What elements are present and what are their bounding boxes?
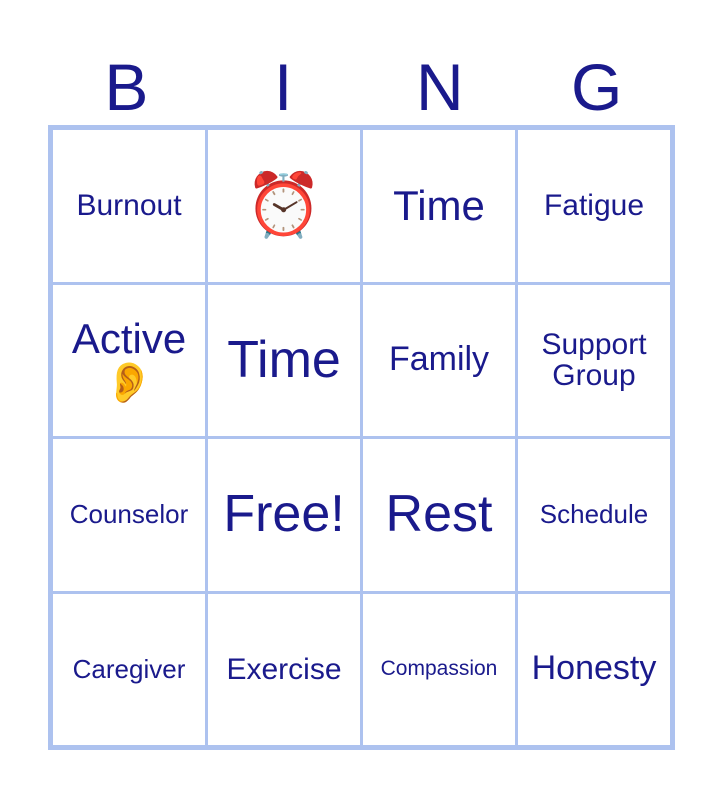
bingo-cell[interactable]: Family: [363, 285, 515, 437]
bingo-cell[interactable]: Time: [208, 285, 360, 437]
bingo-cell[interactable]: Counselor: [53, 439, 205, 591]
bingo-cell-label: Honesty: [522, 651, 666, 687]
bingo-cell-label: Compassion: [367, 658, 511, 680]
bingo-cell-label: Rest: [367, 487, 511, 542]
bingo-cell[interactable]: Active👂: [53, 285, 205, 437]
bingo-cell[interactable]: Time: [363, 130, 515, 282]
bingo-cell[interactable]: Exercise: [208, 594, 360, 746]
bingo-cell-label: Time: [212, 333, 356, 388]
bingo-cell[interactable]: Rest: [363, 439, 515, 591]
bingo-cell-label: Counselor: [57, 501, 201, 528]
bingo-grid: Burnout⏰TimeFatigueActive👂TimeFamilySupp…: [48, 125, 675, 750]
bingo-cell-label: Active: [57, 317, 201, 361]
bingo-card: B I N G Burnout⏰TimeFatigueActive👂TimeFa…: [0, 0, 725, 800]
bingo-cell[interactable]: Schedule: [518, 439, 670, 591]
bingo-cell[interactable]: Caregiver: [53, 594, 205, 746]
bingo-cell-label: Support Group: [522, 329, 666, 392]
bingo-cell[interactable]: Free!: [208, 439, 360, 591]
bingo-cell-label: Free!: [212, 487, 356, 542]
bingo-cell-label: Schedule: [522, 501, 666, 528]
bingo-cell-label: Exercise: [212, 654, 356, 686]
alarm-clock-icon: ⏰: [245, 175, 322, 237]
bingo-cell[interactable]: Burnout: [53, 130, 205, 282]
bingo-cell-label: Time: [367, 184, 511, 228]
bingo-cell-label: Fatigue: [522, 190, 666, 222]
header-letter-i: I: [205, 44, 362, 120]
bingo-cell-label: Burnout: [57, 190, 201, 222]
header-letter-g: G: [518, 44, 675, 120]
bingo-header: B I N G: [48, 44, 675, 120]
header-letter-b: B: [48, 44, 205, 120]
bingo-cell[interactable]: Honesty: [518, 594, 670, 746]
header-letter-n: N: [362, 44, 519, 120]
bingo-cell[interactable]: Compassion: [363, 594, 515, 746]
bingo-cell[interactable]: ⏰: [208, 130, 360, 282]
bingo-cell-label: Caregiver: [57, 656, 201, 683]
bingo-cell-label: Family: [367, 342, 511, 378]
ear-icon: 👂: [104, 363, 154, 403]
bingo-cell[interactable]: Support Group: [518, 285, 670, 437]
bingo-cell[interactable]: Fatigue: [518, 130, 670, 282]
